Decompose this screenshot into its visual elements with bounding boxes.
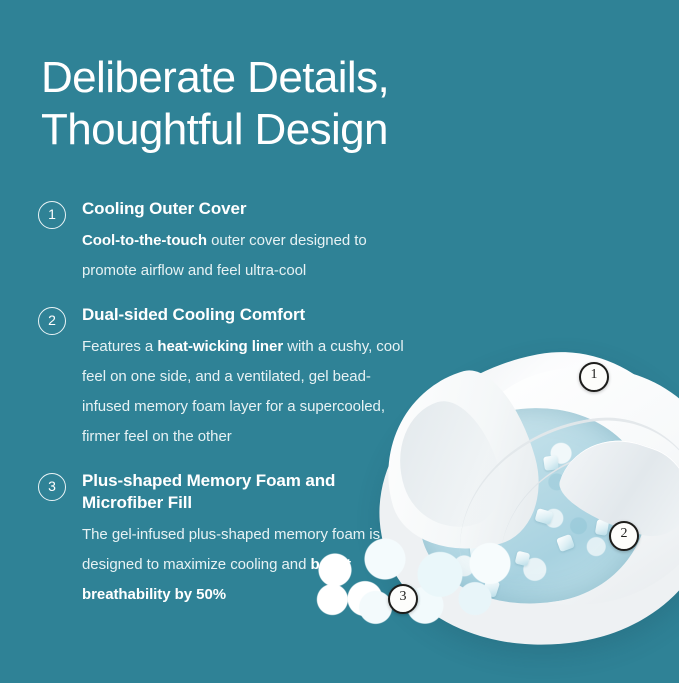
feature-text-1-bold: Cool-to-the-touch <box>82 232 207 249</box>
feature-number-2: 2 <box>38 307 66 335</box>
page-title-line-2: Thoughtful Design <box>41 104 511 156</box>
feature-item-3: 3 Plus-shaped Memory Foam and Microfiber… <box>38 470 418 610</box>
feature-item-1: 1 Cooling Outer Cover Cool-to-the-touch … <box>38 198 418 286</box>
feature-text-1: Cool-to-the-touch outer cover designed t… <box>82 226 418 286</box>
feature-list: 1 Cooling Outer Cover Cool-to-the-touch … <box>38 198 418 628</box>
feature-text-2: Features a heat-wicking liner with a cus… <box>82 332 418 452</box>
callout-badge-1[interactable]: 1 <box>579 362 609 392</box>
feature-title-3: Plus-shaped Memory Foam and Microfiber F… <box>82 470 418 514</box>
feature-number-1: 1 <box>38 201 66 229</box>
feature-text-2-bold: heat-wicking liner <box>157 338 283 355</box>
page-title-line-1: Deliberate Details, <box>41 52 511 104</box>
feature-text-3: The gel-infused plus-shaped memory foam … <box>82 520 418 610</box>
infographic-panel: 1 2 3 Deliberate Details, Thoughtful Des… <box>0 0 679 683</box>
feature-title-2: Dual-sided Cooling Comfort <box>82 304 418 326</box>
feature-item-2: 2 Dual-sided Cooling Comfort Features a … <box>38 304 418 452</box>
page-title: Deliberate Details, Thoughtful Design <box>41 52 511 156</box>
feature-number-3: 3 <box>38 473 66 501</box>
callout-badge-2[interactable]: 2 <box>609 521 639 551</box>
feature-title-1: Cooling Outer Cover <box>82 198 418 220</box>
feature-text-2-before: Features a <box>82 338 157 355</box>
